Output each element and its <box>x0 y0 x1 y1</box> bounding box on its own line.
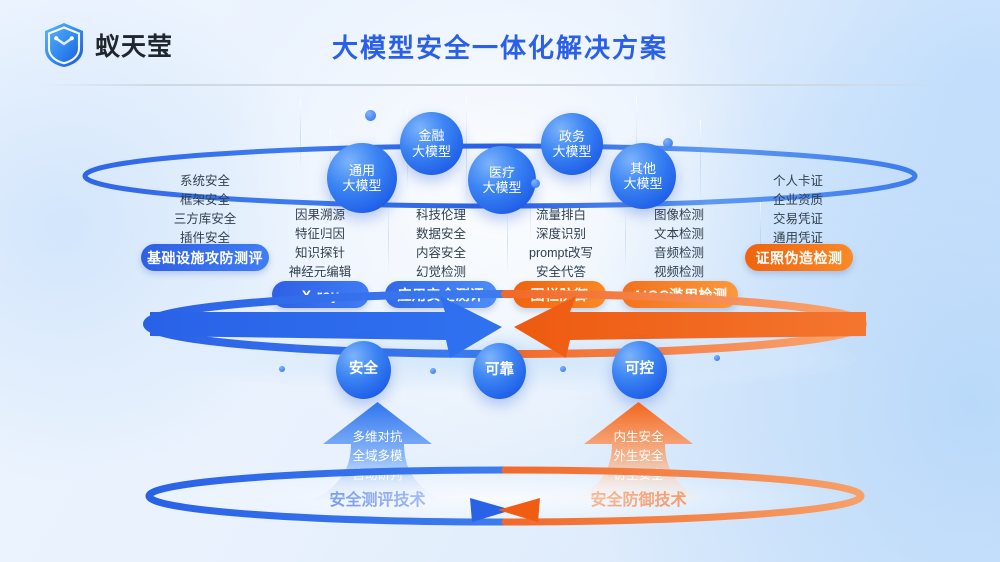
badge-infrastructure[interactable]: 基础设施攻防测评 <box>141 244 269 271</box>
pillar-item: 内生安全 <box>561 428 716 447</box>
capability-item: 个人卡证 <box>745 172 851 191</box>
decor-dot <box>663 138 673 148</box>
decor-dot <box>714 355 720 361</box>
capability-item: 知识探针 <box>265 244 375 263</box>
capability-item: 科技伦理 <box>388 206 494 225</box>
goal-sphere-reliable[interactable]: 可靠 <box>473 343 526 399</box>
capability-item: 特征归因 <box>265 225 375 244</box>
capability-column-certificate-forgery: 个人卡证 企业资质 交易凭证 通用凭证 <box>745 172 851 248</box>
header-divider <box>42 84 957 86</box>
capability-item: 神经元编辑 <box>265 263 375 282</box>
model-label-line1: 通用 <box>349 163 375 178</box>
decor-dot <box>430 368 436 374</box>
decor-dot <box>365 110 376 121</box>
bottom-flow-ring <box>140 466 870 546</box>
model-label-line2: 大模型 <box>552 144 591 159</box>
capability-item: 文本检测 <box>626 225 732 244</box>
capability-item: 数据安全 <box>388 225 494 244</box>
decor-dot <box>531 179 540 188</box>
model-sphere-general[interactable]: 通用 大模型 <box>327 143 397 213</box>
capability-item: 内容安全 <box>388 244 494 263</box>
slide-canvas: 蚁天莹 大模型安全一体化解决方案 通用 大模型 金融 大模型 医疗 大模型 政务… <box>0 0 1000 562</box>
model-label-line1: 金融 <box>418 128 444 143</box>
model-label-line2: 大模型 <box>342 178 381 193</box>
model-label-line2: 大模型 <box>412 144 451 159</box>
capability-column-xray: 因果溯源 特征归因 知识探针 神经元编辑 <box>265 206 375 282</box>
model-label-line2: 大模型 <box>482 180 521 195</box>
pillar-item: 全域多模 <box>300 447 455 466</box>
goal-sphere-controllable[interactable]: 可控 <box>612 341 667 399</box>
model-label-line2: 大模型 <box>623 176 662 191</box>
model-label-line1: 政务 <box>559 129 585 144</box>
capability-item: 深度识别 <box>505 225 617 244</box>
model-label-line1: 其他 <box>630 161 656 176</box>
capability-item: 音频检测 <box>626 244 732 263</box>
header-bar: 蚁天莹 大模型安全一体化解决方案 <box>0 0 1000 86</box>
goal-sphere-safe[interactable]: 安全 <box>336 341 391 399</box>
model-sphere-other[interactable]: 其他 大模型 <box>610 143 676 209</box>
model-sphere-government[interactable]: 政务 大模型 <box>541 113 603 175</box>
capability-item: 交易凭证 <box>745 210 851 229</box>
capability-column-infrastructure: 系统安全 框架安全 三方库安全 插件安全 <box>150 172 260 248</box>
goal-label: 可靠 <box>485 362 514 379</box>
goal-label: 安全 <box>349 361 378 378</box>
capability-item: 系统安全 <box>150 172 260 191</box>
decor-dot <box>279 366 285 372</box>
capability-column-app-security: 科技伦理 数据安全 内容安全 幻觉检测 <box>388 206 494 282</box>
page-title: 大模型安全一体化解决方案 <box>0 28 1000 65</box>
capability-item: 安全代答 <box>505 263 617 282</box>
capability-column-fence-defense: 流量排白 深度识别 prompt改写 安全代答 <box>505 206 617 282</box>
capability-item: 框架安全 <box>150 191 260 210</box>
pillar-item: 多维对抗 <box>300 428 455 447</box>
goal-label: 可控 <box>625 361 654 378</box>
capability-column-aigc-abuse: 图像检测 文本检测 音频检测 视频检测 <box>626 206 732 282</box>
capability-item: 三方库安全 <box>150 210 260 229</box>
capability-item: 流量排白 <box>505 206 617 225</box>
pillar-item: 外生安全 <box>561 447 716 466</box>
capability-item: 视频检测 <box>626 263 732 282</box>
decor-dot <box>560 366 566 372</box>
model-sphere-finance[interactable]: 金融 大模型 <box>400 112 463 175</box>
capability-item: 幻觉检测 <box>388 263 494 282</box>
capability-item: prompt改写 <box>505 244 617 263</box>
model-label-line1: 医疗 <box>489 165 515 180</box>
model-sphere-medical[interactable]: 医疗 大模型 <box>468 146 536 214</box>
capability-item: 图像检测 <box>626 206 732 225</box>
capability-item: 企业资质 <box>745 191 851 210</box>
capability-item: 因果溯源 <box>265 206 375 225</box>
badge-certificate-forgery[interactable]: 证照伪造检测 <box>745 244 853 271</box>
